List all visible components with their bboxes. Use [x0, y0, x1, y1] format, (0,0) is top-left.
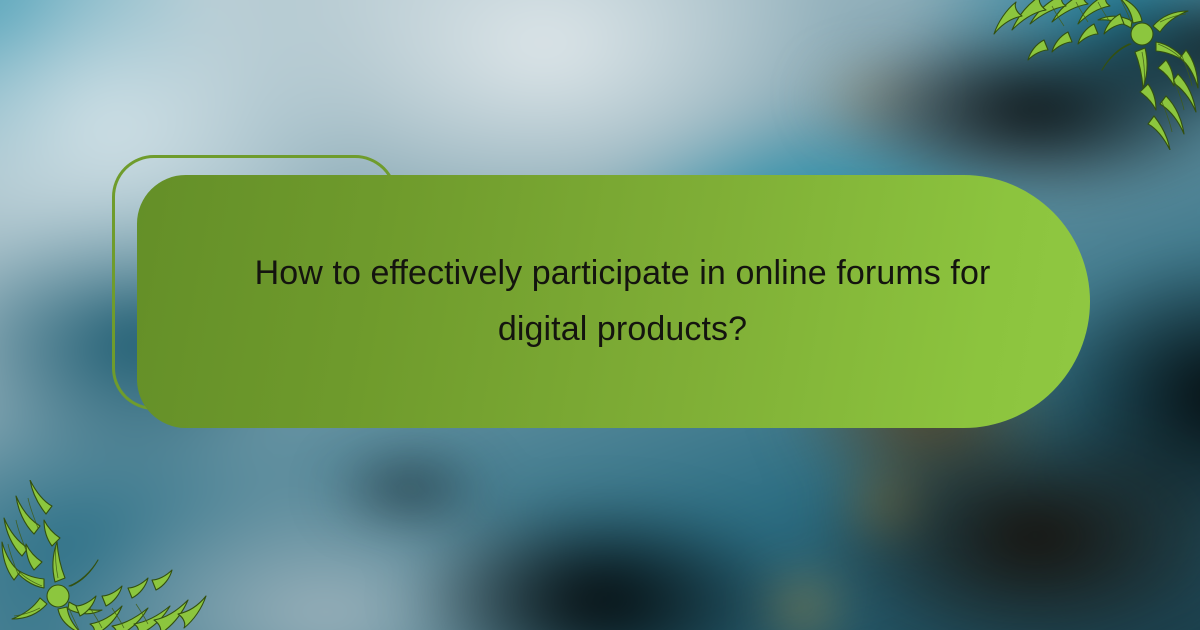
social-share-card: How to effectively participate in online…: [0, 0, 1200, 630]
page-title: How to effectively participate in online…: [214, 246, 1014, 356]
title-card: How to effectively participate in online…: [137, 175, 1090, 428]
floral-ornament-icon-bottom-left: [0, 480, 210, 630]
floral-ornament-icon-top-right: [990, 0, 1200, 150]
